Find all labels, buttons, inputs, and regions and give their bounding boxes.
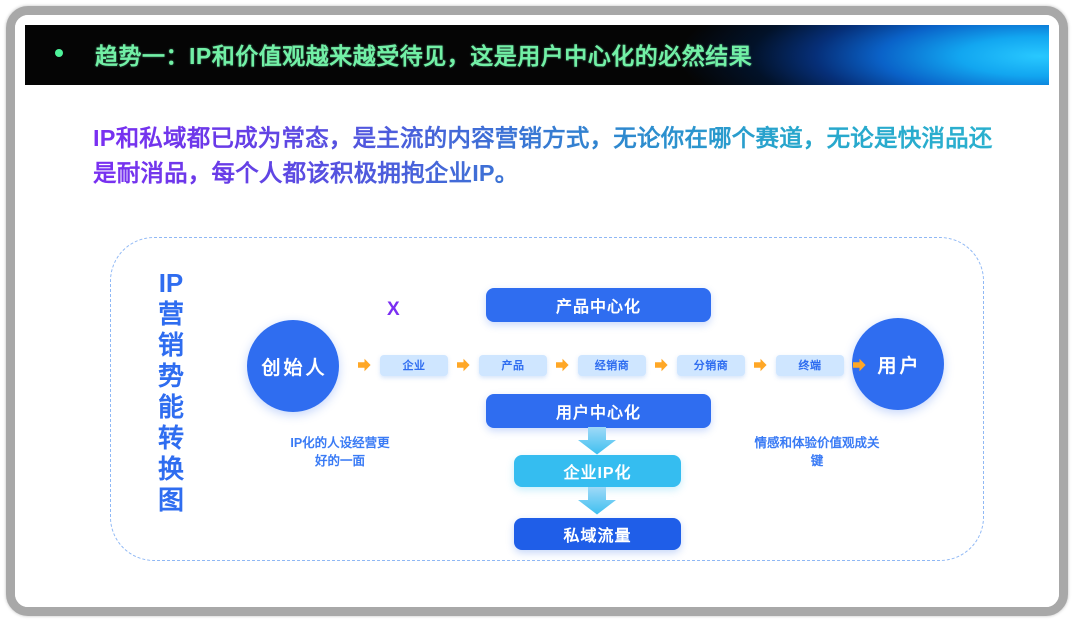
box-user-center: 用户中心化 [486,394,711,428]
box-user-center-label: 用户中心化 [556,399,641,423]
chain-arrow-icon [457,358,470,372]
box-enterprise-ip: 企业IP化 [514,455,681,487]
down-arrow-icon [577,427,617,455]
chain-arrow-icon [754,358,767,372]
annotation-right: 情感和体验价值观成关键 [752,434,882,470]
down-arrow-icon [577,487,617,515]
chain-pill-1-label: 产品 [502,357,525,373]
diagram-container: IP营销势能转换图 创始人 用户 X 企业 [110,237,984,561]
chain-pill-3: 分销商 [677,355,745,376]
chain-arrow-icon [358,358,371,372]
diagram-vertical-title: IP营销势能转换图 [151,268,191,516]
chain-pill-2: 经销商 [578,355,646,376]
box-enterprise-ip-label: 企业IP化 [563,459,631,483]
box-private-traffic-label: 私域流量 [563,522,631,546]
circle-user-label: 用户 [874,351,921,378]
circle-founder: 创始人 [247,320,339,412]
box-private-traffic: 私域流量 [514,518,681,550]
title-band: 趋势一：IP和价值观越来越受待见，这是用户中心化的必然结果 [25,25,1049,85]
chain-arrow-icon [655,358,668,372]
slide-canvas: 趋势一：IP和价值观越来越受待见，这是用户中心化的必然结果 IP和私域都已成为常… [15,15,1059,607]
chain-pill-2-label: 经销商 [595,357,630,373]
chain-pill-1: 产品 [479,355,547,376]
title-bullet-icon [55,49,63,57]
box-product-center: 产品中心化 [486,288,711,322]
chain-pill-0-label: 企业 [403,357,426,373]
chain-pill-4-label: 终端 [799,357,822,373]
circle-founder-label: 创始人 [258,353,327,380]
chain-arrow-icon [556,358,569,372]
chain-arrow-icon [853,358,866,372]
box-product-center-label: 产品中心化 [556,293,641,317]
slide-frame: 趋势一：IP和价值观越来越受待见，这是用户中心化的必然结果 IP和私域都已成为常… [6,6,1068,616]
chain-pill-3-label: 分销商 [694,357,729,373]
body-paragraph: IP和私域都已成为常态，是主流的内容营销方式，无论你在哪个赛道，无论是快消品还是… [93,121,1003,191]
page-title: 趋势一：IP和价值观越来越受待见，这是用户中心化的必然结果 [95,37,752,71]
distribution-chain: 企业 产品 经销商 分销商 [349,348,849,382]
chain-pill-4: 终端 [776,355,844,376]
chain-pill-0: 企业 [380,355,448,376]
annotation-left: IP化的人设经营更好的一面 [285,434,395,470]
x-marker: X [387,299,400,321]
